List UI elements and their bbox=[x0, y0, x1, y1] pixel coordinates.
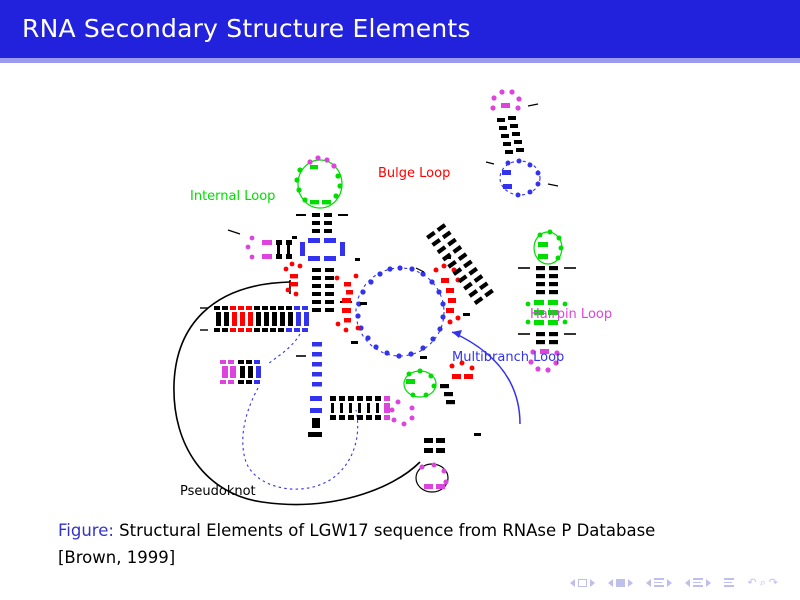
frame-icon[interactable] bbox=[616, 579, 625, 587]
next-slide-icon[interactable] bbox=[590, 579, 595, 587]
document-icon[interactable] bbox=[724, 578, 734, 587]
figure-caption-label: Figure: bbox=[58, 521, 114, 540]
search-icon[interactable]: ⌕ bbox=[760, 577, 766, 588]
nav-subsection-group[interactable] bbox=[646, 578, 672, 587]
figure-caption: Figure: Structural Elements of LGW17 seq… bbox=[58, 518, 718, 571]
section-icon[interactable] bbox=[693, 578, 703, 587]
nav-doc-group[interactable] bbox=[724, 578, 734, 587]
pseudoknot-connector bbox=[268, 334, 300, 364]
page-title: RNA Secondary Structure Elements bbox=[22, 14, 471, 43]
multibranch-loop-arrow bbox=[452, 332, 520, 424]
multibranch-loop-circle bbox=[355, 265, 445, 358]
nav-extra-group[interactable]: ↶ ⌕ ↷ bbox=[747, 577, 778, 588]
prev-slide-icon[interactable] bbox=[570, 579, 575, 587]
bottom-center-duplex bbox=[330, 396, 390, 420]
left-hairpin-loop bbox=[294, 155, 342, 208]
upper-right-diagonal-stem bbox=[426, 223, 494, 305]
forward-icon[interactable]: ↷ bbox=[769, 577, 778, 588]
left-upper-stem bbox=[296, 213, 348, 233]
left-bulge-red bbox=[284, 262, 303, 297]
label-multibranch-loop: Multibranch Loop bbox=[452, 350, 564, 365]
beamer-navigation-bar[interactable]: ↶ ⌕ ↷ bbox=[570, 577, 778, 588]
figure-caption-text: Structural Elements of LGW17 sequence fr… bbox=[58, 521, 655, 567]
rna-secondary-structure-diagram: Internal Loop Bulge Loop Hairpin Loop Mu… bbox=[0, 66, 800, 506]
label-internal-loop: Internal Loop bbox=[190, 189, 275, 204]
prev-frame-icon[interactable] bbox=[608, 579, 613, 587]
rna-structure-figure: Internal Loop Bulge Loop Hairpin Loop Mu… bbox=[0, 66, 800, 506]
prev-subsection-icon[interactable] bbox=[646, 579, 651, 587]
upper-blue-internal-loop bbox=[486, 159, 558, 198]
top-stem-and-hairpin bbox=[490, 89, 538, 154]
back-icon[interactable]: ↶ bbox=[747, 577, 756, 588]
next-frame-icon[interactable] bbox=[628, 579, 633, 587]
pseudoknot-duplex bbox=[200, 306, 309, 332]
slide-title-underline bbox=[0, 58, 800, 63]
center-lower-helix bbox=[296, 342, 322, 437]
label-hairpin-loop: Hairpin Loop bbox=[530, 307, 612, 322]
label-bulge-loop: Bulge Loop bbox=[378, 166, 450, 181]
internal-loop-element bbox=[228, 230, 345, 261]
next-section-icon[interactable] bbox=[706, 579, 711, 587]
prev-section-icon[interactable] bbox=[685, 579, 690, 587]
lower-right-arm bbox=[390, 361, 475, 493]
slide-icon[interactable] bbox=[578, 579, 587, 587]
next-subsection-icon[interactable] bbox=[667, 579, 672, 587]
nav-frame-group[interactable] bbox=[608, 579, 633, 587]
subsection-icon[interactable] bbox=[654, 578, 664, 587]
nav-section-group[interactable] bbox=[685, 578, 711, 587]
nav-slide-group[interactable] bbox=[570, 579, 595, 587]
label-pseudoknot: Pseudoknot bbox=[180, 484, 256, 499]
lower-left-helix bbox=[220, 360, 261, 384]
